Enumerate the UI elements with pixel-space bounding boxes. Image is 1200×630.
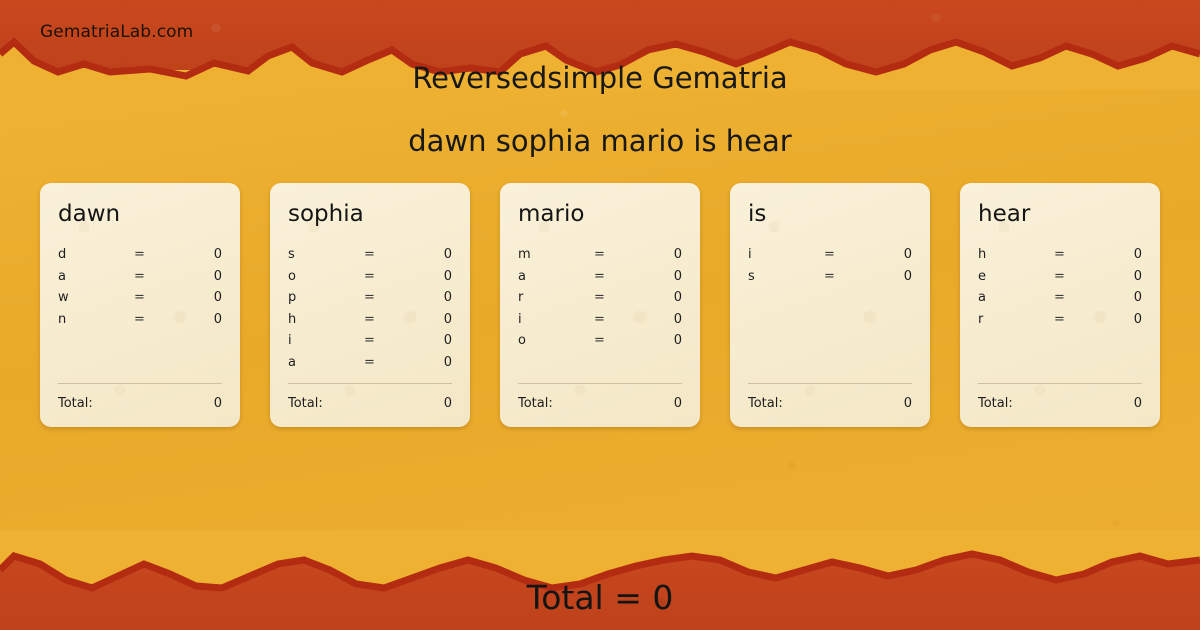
word-card-list: dawn d = 0 a = 0 w = 0 n xyxy=(40,183,1160,427)
card-total-label: Total: xyxy=(978,396,1134,411)
equals-sign: = xyxy=(594,330,640,352)
letter-value: 0 xyxy=(410,330,452,352)
letter-value-rows: h = 0 e = 0 a = 0 r = 0 xyxy=(978,244,1142,383)
equals-sign: = xyxy=(364,266,410,288)
equals-sign: = xyxy=(134,287,180,309)
word-card: sophia s = 0 o = 0 p = 0 h xyxy=(270,183,470,427)
card-total-row: Total: 0 xyxy=(518,384,682,427)
letter-value: 0 xyxy=(1100,309,1142,331)
card-total-value: 0 xyxy=(444,396,452,411)
letter: r xyxy=(978,309,1054,331)
card-total-value: 0 xyxy=(214,396,222,411)
letter-value: 0 xyxy=(640,330,682,352)
equals-sign: = xyxy=(1054,309,1100,331)
card-total-label: Total: xyxy=(58,396,214,411)
letter: w xyxy=(58,287,134,309)
letter-row: a = 0 xyxy=(518,266,682,288)
letter: a xyxy=(288,352,364,374)
letter-row: w = 0 xyxy=(58,287,222,309)
letter-row: e = 0 xyxy=(978,266,1142,288)
letter-value: 0 xyxy=(1100,287,1142,309)
card-total-row: Total: 0 xyxy=(978,384,1142,427)
letter-value: 0 xyxy=(640,287,682,309)
equals-sign: = xyxy=(364,309,410,331)
equals-sign: = xyxy=(1054,266,1100,288)
letter-value: 0 xyxy=(410,244,452,266)
letter-value: 0 xyxy=(1100,244,1142,266)
gematria-result-page: GematriaLab.com Reversedsimple Gematria … xyxy=(0,0,1200,630)
letter: a xyxy=(58,266,134,288)
letter: p xyxy=(288,287,364,309)
equals-sign: = xyxy=(594,244,640,266)
letter-value: 0 xyxy=(410,266,452,288)
phrase-subtitle: dawn sophia mario is hear xyxy=(0,119,1200,163)
equals-sign: = xyxy=(594,287,640,309)
letter-value: 0 xyxy=(410,309,452,331)
letter-row: o = 0 xyxy=(518,330,682,352)
letter-value-rows: i = 0 s = 0 xyxy=(748,244,912,383)
word-card: is i = 0 s = 0 Total: 0 xyxy=(730,183,930,427)
letter-row: h = 0 xyxy=(978,244,1142,266)
letter: i xyxy=(288,330,364,352)
letter-value: 0 xyxy=(410,352,452,374)
letter-row: s = 0 xyxy=(288,244,452,266)
letter-value-rows: m = 0 a = 0 r = 0 i = 0 xyxy=(518,244,682,383)
letter-value: 0 xyxy=(410,287,452,309)
card-word: is xyxy=(748,201,912,227)
equals-sign: = xyxy=(1054,287,1100,309)
card-total-row: Total: 0 xyxy=(288,384,452,427)
letter-value: 0 xyxy=(180,309,222,331)
letter: h xyxy=(978,244,1054,266)
letter-value-rows: d = 0 a = 0 w = 0 n = 0 xyxy=(58,244,222,383)
letter-value: 0 xyxy=(870,266,912,288)
letter-value: 0 xyxy=(180,287,222,309)
letter: e xyxy=(978,266,1054,288)
equals-sign: = xyxy=(594,309,640,331)
grand-total: Total = 0 xyxy=(0,578,1200,618)
card-total-value: 0 xyxy=(674,396,682,411)
letter-row: a = 0 xyxy=(288,352,452,374)
equals-sign: = xyxy=(1054,244,1100,266)
card-total-label: Total: xyxy=(748,396,904,411)
letter: a xyxy=(518,266,594,288)
letter: n xyxy=(58,309,134,331)
letter-value: 0 xyxy=(640,266,682,288)
letter-row: p = 0 xyxy=(288,287,452,309)
letter-value: 0 xyxy=(180,244,222,266)
letter-row: a = 0 xyxy=(58,266,222,288)
card-word: hear xyxy=(978,201,1142,227)
letter-row: h = 0 xyxy=(288,309,452,331)
word-card: hear h = 0 e = 0 a = 0 r xyxy=(960,183,1160,427)
letter-value: 0 xyxy=(640,309,682,331)
equals-sign: = xyxy=(134,309,180,331)
letter-row: i = 0 xyxy=(518,309,682,331)
card-total-row: Total: 0 xyxy=(58,384,222,427)
card-word: mario xyxy=(518,201,682,227)
equals-sign: = xyxy=(364,244,410,266)
letter-row: a = 0 xyxy=(978,287,1142,309)
site-logo[interactable]: GematriaLab.com xyxy=(40,22,193,42)
letter: o xyxy=(518,330,594,352)
equals-sign: = xyxy=(364,330,410,352)
equals-sign: = xyxy=(824,244,870,266)
letter-value: 0 xyxy=(640,244,682,266)
letter: i xyxy=(518,309,594,331)
letter-value: 0 xyxy=(180,266,222,288)
equals-sign: = xyxy=(364,287,410,309)
letter-value: 0 xyxy=(1100,266,1142,288)
letter-row: r = 0 xyxy=(518,287,682,309)
equals-sign: = xyxy=(364,352,410,374)
letter-row: r = 0 xyxy=(978,309,1142,331)
equals-sign: = xyxy=(134,266,180,288)
letter-row: s = 0 xyxy=(748,266,912,288)
card-total-row: Total: 0 xyxy=(748,384,912,427)
page-headings: Reversedsimple Gematria dawn sophia mari… xyxy=(0,56,1200,163)
page-title: Reversedsimple Gematria xyxy=(0,56,1200,100)
letter: a xyxy=(978,287,1054,309)
card-total-label: Total: xyxy=(288,396,444,411)
letter: m xyxy=(518,244,594,266)
letter: h xyxy=(288,309,364,331)
letter-row: o = 0 xyxy=(288,266,452,288)
letter: s xyxy=(288,244,364,266)
letter-value-rows: s = 0 o = 0 p = 0 h = 0 xyxy=(288,244,452,383)
letter-row: d = 0 xyxy=(58,244,222,266)
letter-row: i = 0 xyxy=(748,244,912,266)
letter: r xyxy=(518,287,594,309)
card-word: sophia xyxy=(288,201,452,227)
letter: d xyxy=(58,244,134,266)
card-total-value: 0 xyxy=(904,396,912,411)
card-total-value: 0 xyxy=(1134,396,1142,411)
equals-sign: = xyxy=(594,266,640,288)
word-card: mario m = 0 a = 0 r = 0 i xyxy=(500,183,700,427)
letter: o xyxy=(288,266,364,288)
letter-value: 0 xyxy=(870,244,912,266)
letter-row: n = 0 xyxy=(58,309,222,331)
equals-sign: = xyxy=(824,266,870,288)
card-word: dawn xyxy=(58,201,222,227)
letter-row: m = 0 xyxy=(518,244,682,266)
card-total-label: Total: xyxy=(518,396,674,411)
letter-row: i = 0 xyxy=(288,330,452,352)
letter: i xyxy=(748,244,824,266)
word-card: dawn d = 0 a = 0 w = 0 n xyxy=(40,183,240,427)
equals-sign: = xyxy=(134,244,180,266)
letter: s xyxy=(748,266,824,288)
